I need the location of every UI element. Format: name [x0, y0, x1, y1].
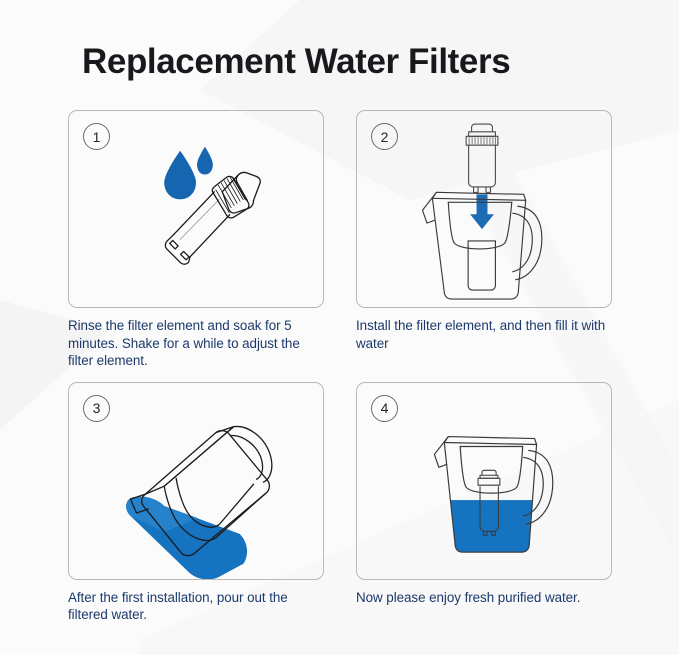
poured-water-shape: [126, 496, 247, 579]
step-2-caption: Install the filter element, and then fil…: [356, 317, 608, 352]
instruction-sheet: Replacement Water Filters 1: [0, 0, 679, 655]
water-drop-small-icon: [197, 147, 213, 175]
step-badge-3: 3: [83, 395, 110, 422]
step-3-panel: 3: [68, 382, 324, 580]
step-3-caption: After the first installation, pour out t…: [68, 589, 320, 624]
step-2: 2: [356, 110, 612, 370]
step-badge-1: 1: [83, 123, 110, 150]
step-4-panel: 4: [356, 382, 612, 580]
page-title: Replacement Water Filters: [82, 42, 510, 82]
step-1-caption: Rinse the filter element and soak for 5 …: [68, 317, 320, 370]
step-2-panel: 2: [356, 110, 612, 308]
filter-cartridge-icon: [466, 124, 498, 192]
step-4: 4: [356, 382, 612, 624]
step-badge-2: 2: [371, 123, 398, 150]
step-4-caption: Now please enjoy fresh purified water.: [356, 589, 608, 607]
steps-row-bottom: 3: [68, 382, 613, 624]
step-1-panel: 1: [68, 110, 324, 308]
steps-grid: 1: [68, 110, 613, 624]
water-fill: [436, 500, 545, 569]
steps-row-top: 1: [68, 110, 613, 370]
water-drop-large-icon: [164, 151, 196, 200]
step-1: 1: [68, 110, 324, 370]
step-3: 3: [68, 382, 324, 624]
step-badge-4: 4: [371, 395, 398, 422]
